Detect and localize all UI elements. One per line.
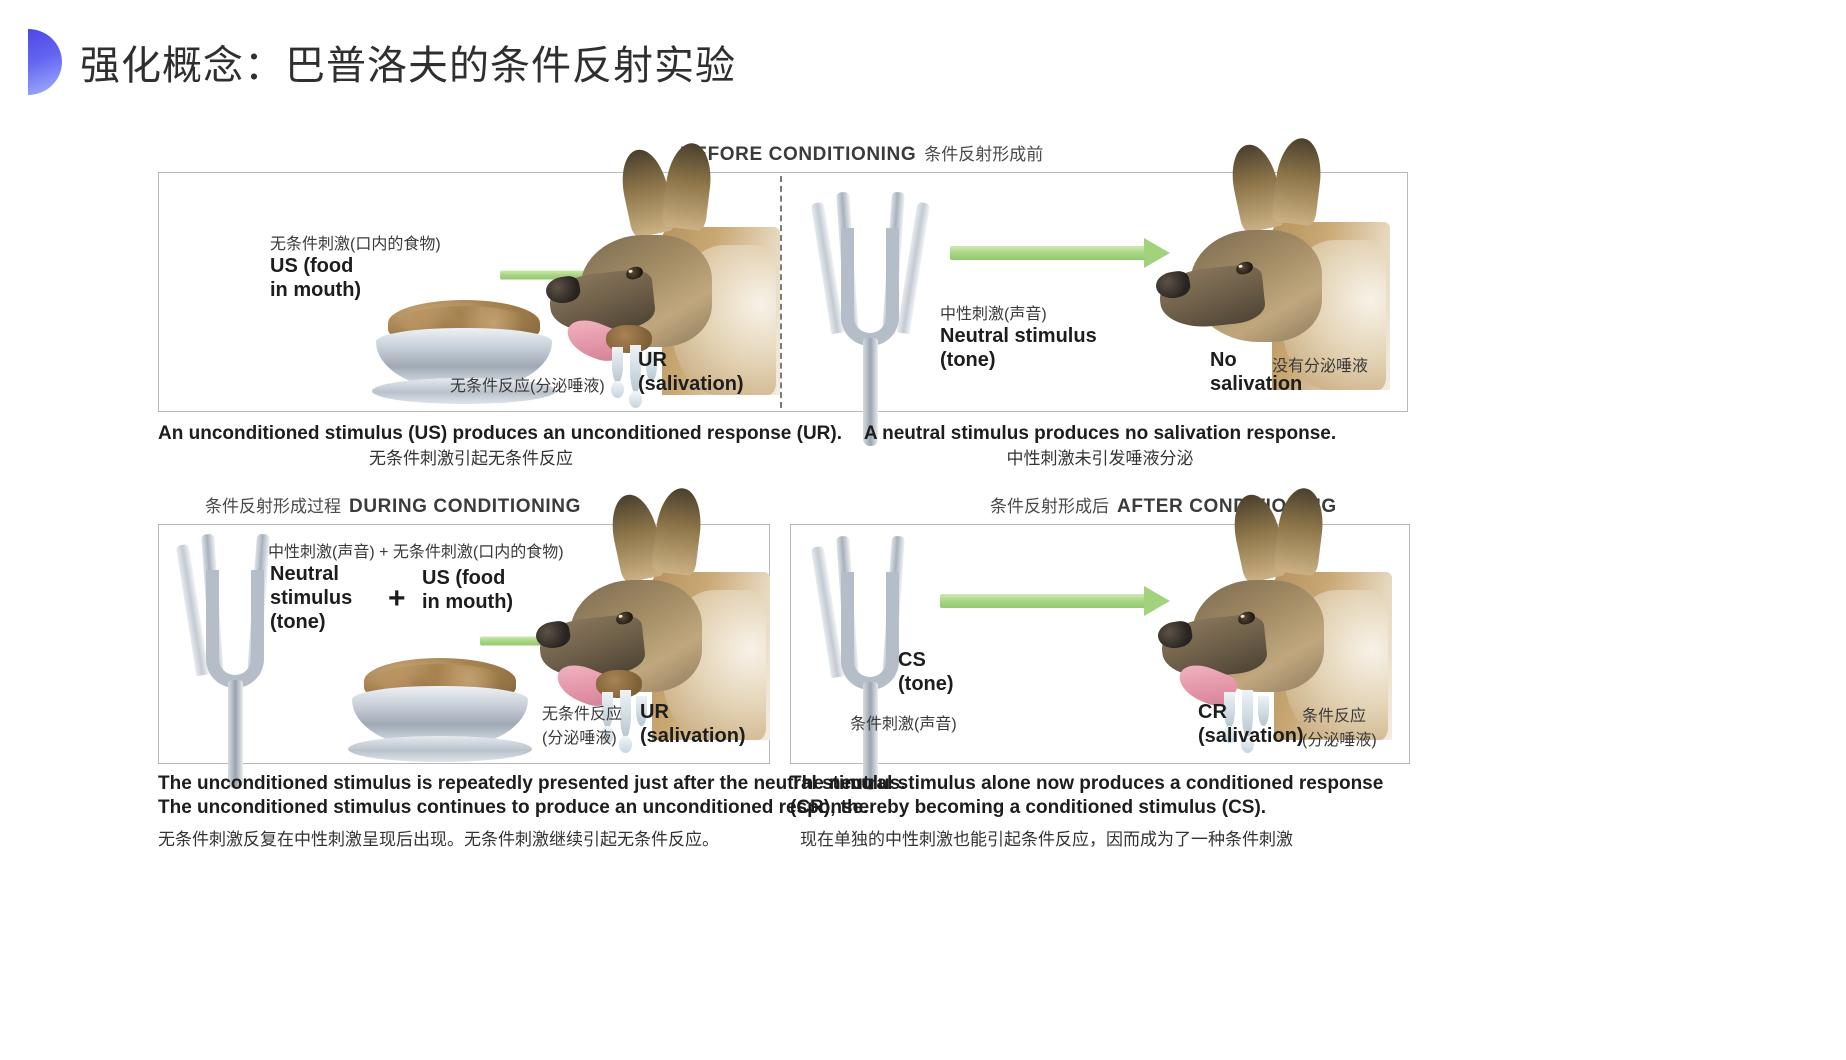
label-cs-cn: 条件刺激(声音) xyxy=(850,710,957,734)
label-us-food-2-line2: in mouth) xyxy=(422,590,513,614)
label-cs-cn-text: 条件刺激(声音) xyxy=(850,710,957,734)
label-ur-en-2-line2: (salivation) xyxy=(640,724,746,748)
heading-after-conditioning-cn: 条件反射形成后 xyxy=(990,492,1109,517)
heading-before-conditioning-en: BEFORE CONDITIONING xyxy=(680,144,916,166)
heading-during-conditioning-cn: 条件反射形成过程 xyxy=(205,492,341,517)
caption-during-conditioning: The unconditioned stimulus is repeatedly… xyxy=(158,772,778,852)
caption-after-cn: 现在单独的中性刺激也能引起条件反应，因而成为了一种条件刺激 xyxy=(800,827,1430,853)
label-ur-cn-2-line1: 无条件反应 xyxy=(542,700,622,724)
caption-before-conditioning-us: An unconditioned stimulus (US) produces … xyxy=(158,422,784,472)
fork-u-body xyxy=(841,572,899,690)
label-ur-en: UR (salivation) xyxy=(638,348,744,396)
label-cs-line2: (tone) xyxy=(898,672,954,696)
label-no-salivation-cn-text: 没有分泌唾液 xyxy=(1272,352,1368,376)
label-no-salivation-cn: 没有分泌唾液 xyxy=(1272,352,1368,376)
label-us-food-2-line1: US (food xyxy=(422,566,513,590)
arrow-cs-to-dog xyxy=(940,588,1170,614)
label-during-stimulus-cn: 中性刺激(声音) + 无条件刺激(口内的食物) xyxy=(268,538,564,562)
caption-us-cn: 无条件刺激引起无条件反应 xyxy=(158,446,784,472)
label-ur-cn-text: 无条件反应(分泌唾液) xyxy=(450,372,605,396)
caption-us-en: An unconditioned stimulus (US) produces … xyxy=(158,422,784,446)
label-us-food-en-line2: in mouth) xyxy=(270,278,441,302)
label-neutral-2-line3: (tone) xyxy=(270,610,352,634)
plus-sign: + xyxy=(388,582,406,616)
saliva-drip-1 xyxy=(612,347,623,383)
caption-during-en-line2: The unconditioned stimulus continues to … xyxy=(158,796,778,820)
label-cr-cn-line2: (分泌唾液) xyxy=(1302,726,1377,750)
caption-after-en-line2: (CR), thereby becoming a conditioned sti… xyxy=(790,796,1430,820)
dog-ear-right-icon xyxy=(651,486,705,577)
label-ur-en-2: UR (salivation) xyxy=(640,700,746,748)
label-ur-en-line2: (salivation) xyxy=(638,372,744,396)
arrow-tone-to-dog-1 xyxy=(950,240,1170,266)
caption-ns-en: A neutral stimulus produces no salivatio… xyxy=(790,422,1410,446)
panel-divider-dashed xyxy=(780,176,782,408)
caption-before-conditioning-ns: A neutral stimulus produces no salivatio… xyxy=(790,422,1410,472)
label-cr-en-line2: (salivation) xyxy=(1198,724,1304,748)
label-us-food-en-line1: US (food xyxy=(270,254,441,278)
title-accent-shape xyxy=(28,29,62,95)
label-neutral-stimulus-en-line2: (tone) xyxy=(940,348,1097,372)
label-cs-tone: CS (tone) xyxy=(898,648,954,696)
page-title: 强化概念：巴普洛夫的条件反射实验 xyxy=(80,33,736,91)
label-during-stimulus-cn-text: 中性刺激(声音) + 无条件刺激(口内的食物) xyxy=(268,538,564,562)
caption-during-cn: 无条件刺激反复在中性刺激呈现后出现。无条件刺激继续引起无条件反应。 xyxy=(158,827,778,853)
label-neutral-stimulus-en-line1: Neutral stimulus xyxy=(940,324,1097,348)
arrow-shaft xyxy=(940,594,1146,608)
arrow-shaft xyxy=(950,246,1146,260)
caption-during-en-line1: The unconditioned stimulus is repeatedly… xyxy=(158,772,778,796)
slide-header: 强化概念：巴普洛夫的条件反射实验 xyxy=(0,22,736,102)
fork-u-body xyxy=(841,228,899,346)
label-ur-cn: 无条件反应(分泌唾液) xyxy=(450,372,605,396)
caption-after-conditioning: The neutral stimulus alone now produces … xyxy=(790,772,1430,852)
label-neutral-2-line1: Neutral xyxy=(270,562,352,586)
dog-ear-right-icon xyxy=(1271,136,1325,227)
heading-before-conditioning: BEFORE CONDITIONING 条件反射形成前 xyxy=(680,140,1043,166)
label-ur-cn-2-line2: (分泌唾液) xyxy=(542,724,622,748)
heading-during-conditioning-en: DURING CONDITIONING xyxy=(349,496,581,518)
caption-after-en-line1: The neutral stimulus alone now produces … xyxy=(790,772,1430,796)
label-cr-cn: 条件反应 (分泌唾液) xyxy=(1302,702,1377,750)
label-ur-cn-2: 无条件反应 (分泌唾液) xyxy=(542,700,622,748)
saliva-drop-1 xyxy=(611,381,624,398)
heading-before-conditioning-cn: 条件反射形成前 xyxy=(924,140,1043,165)
label-neutral-stimulus-2: Neutral stimulus (tone) xyxy=(270,562,352,634)
caption-ns-cn: 中性刺激未引发唾液分泌 xyxy=(790,446,1410,472)
label-cr-en: CR (salivation) xyxy=(1198,700,1304,748)
label-cr-cn-line1: 条件反应 xyxy=(1302,702,1377,726)
label-us-food: 无条件刺激(口内的食物) US (food in mouth) xyxy=(270,230,441,302)
pavlov-conditioning-figure: BEFORE CONDITIONING 条件反射形成前 无条件刺激(口内的食物)… xyxy=(150,140,1710,1020)
label-neutral-stimulus-cn: 中性刺激(声音) xyxy=(940,300,1097,324)
heading-during-conditioning: 条件反射形成过程 DURING CONDITIONING xyxy=(205,492,581,518)
label-us-food-2: US (food in mouth) xyxy=(422,566,513,614)
tuning-fork-1 xyxy=(815,188,925,448)
label-ur-en-2-line1: UR xyxy=(640,700,746,724)
label-ur-en-line1: UR xyxy=(638,348,744,372)
fork-u-body xyxy=(206,570,264,688)
label-neutral-stimulus-1: 中性刺激(声音) Neutral stimulus (tone) xyxy=(940,300,1097,372)
label-cr-en-line1: CR xyxy=(1198,700,1304,724)
bowl-base xyxy=(348,736,532,762)
label-us-food-cn: 无条件刺激(口内的食物) xyxy=(270,230,441,254)
label-neutral-2-line2: stimulus xyxy=(270,586,352,610)
label-cs-line1: CS xyxy=(898,648,954,672)
